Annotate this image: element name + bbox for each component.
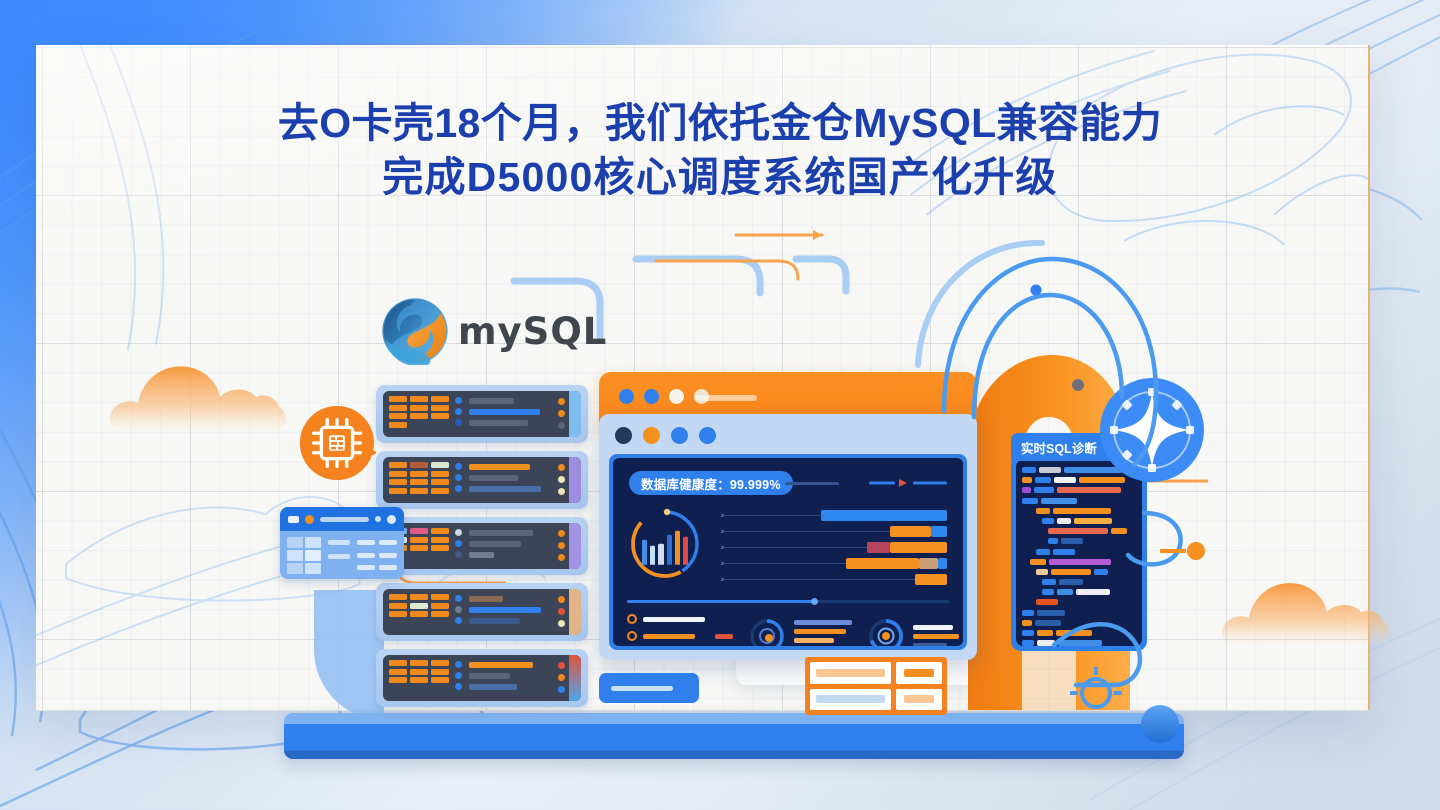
card-dot-white [288,516,299,523]
code-line [1022,599,1136,605]
config-card-widget [280,507,404,579]
server-rack-unit [376,385,588,443]
server-rack-unit [376,583,588,641]
cloud-right-icon [1211,553,1401,677]
mini-bar-chart [642,525,688,565]
progress-divider [627,600,949,603]
server-rack-unit [376,451,588,509]
base-platform [284,713,1184,759]
dashboard-window: 数据库健康度：99.999% [599,414,977,660]
sql-diagnostic-panel [1011,455,1147,651]
card-lines-b [357,537,397,574]
window-title-placeholder [695,395,757,401]
status-badge: 数据库健康度：99.999% [629,471,793,495]
code-line [1022,508,1136,514]
title-line-1: 去O卡壳18个月，我们依托金仓MySQL兼容能力 [278,100,1162,146]
dashboard-screen-frame: 数据库健康度：99.999% [609,454,967,650]
flow-arrow-icon [869,479,949,487]
table-cell [896,662,942,684]
server-rack-stack [376,385,606,715]
code-line [1022,610,1136,616]
table-grid-widget [805,657,947,715]
mini-blue-chip [599,673,699,703]
metrics-row [627,614,951,646]
code-line [1022,549,1136,555]
badge-trailing-line [785,482,839,485]
server-rack-unit [376,517,588,575]
sparkle-star-icon [1098,376,1206,484]
code-line [1022,640,1136,646]
metric-gauge-group-2 [866,614,959,646]
card-dot-small [375,516,381,522]
code-line [1022,589,1136,595]
code-line [1022,569,1136,575]
table-cell [810,662,891,684]
code-line [1022,538,1136,544]
horizontal-bar-chart [721,510,949,590]
card-dot-light [387,515,396,524]
bar-row [721,526,949,537]
gauge-ring-icon [866,616,906,646]
bullet-list [627,614,733,646]
code-line [1022,579,1136,585]
page-title: 去O卡壳18个月，我们依托金仓MySQL兼容能力 完成D5000核心调度系统国产… [0,96,1440,204]
mysql-logo: mySQL [381,292,566,370]
bar-row [721,574,949,585]
title-line-2: 完成D5000核心调度系统国产化升级 [0,150,1440,204]
ring-bullet-icon [627,614,637,624]
gauge-bars [794,620,852,646]
code-line [1022,487,1136,493]
bar-row [721,542,949,553]
table-cell [810,689,891,711]
metric-list-group [627,614,733,646]
code-line [1022,528,1136,534]
bar-row [721,510,949,521]
code-line [1022,498,1136,504]
leaf-shape [314,590,384,720]
card-lines-a [328,537,350,574]
table-cell [896,689,942,711]
code-line [1022,620,1136,626]
mysql-wordmark: mySQL [458,310,607,353]
code-line [1022,630,1136,636]
metric-gauge-group-1 [747,614,852,646]
cpu-chip-icon [298,404,376,482]
gauge-bars [913,625,959,647]
list-item [627,614,733,624]
cloud-left-icon [98,335,298,465]
server-rack-unit [376,649,588,707]
card-header-bar [320,517,369,522]
dashboard-screen: 数据库健康度：99.999% [613,458,963,646]
bar-row [721,558,949,569]
gauge-ring-icon [747,616,787,646]
card-dot-orange [305,515,314,524]
code-lines [1016,460,1142,646]
decorative-ball [1141,705,1179,743]
card-thumb-grid [287,537,321,574]
code-line [1022,559,1136,565]
list-item [627,631,733,641]
mysql-dolphin-swirl-icon [381,297,449,365]
code-line [1022,518,1136,524]
ring-bullet-icon [627,631,637,641]
donut-chart [627,506,703,582]
window-dots-main [615,427,716,444]
